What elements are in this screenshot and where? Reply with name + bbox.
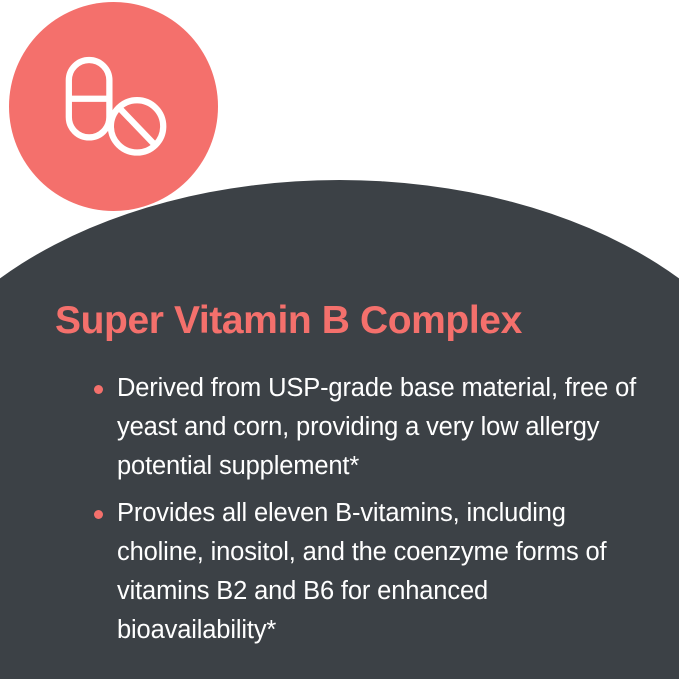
list-item-text: Provides all eleven B-vitamins, includin…	[117, 499, 607, 644]
bullet-dot-icon	[94, 385, 103, 394]
bullet-dot-icon	[94, 510, 103, 519]
list-item: Derived from USP-grade base material, fr…	[88, 369, 648, 486]
card-content: Super Vitamin B Complex Derived from USP…	[0, 0, 679, 679]
page-title: Super Vitamin B Complex	[55, 301, 522, 340]
list-item: Provides all eleven B-vitamins, includin…	[88, 494, 648, 650]
feature-bullet-list: Derived from USP-grade base material, fr…	[88, 369, 648, 658]
product-feature-card: Super Vitamin B Complex Derived from USP…	[0, 0, 679, 679]
list-item-text: Derived from USP-grade base material, fr…	[117, 374, 636, 480]
